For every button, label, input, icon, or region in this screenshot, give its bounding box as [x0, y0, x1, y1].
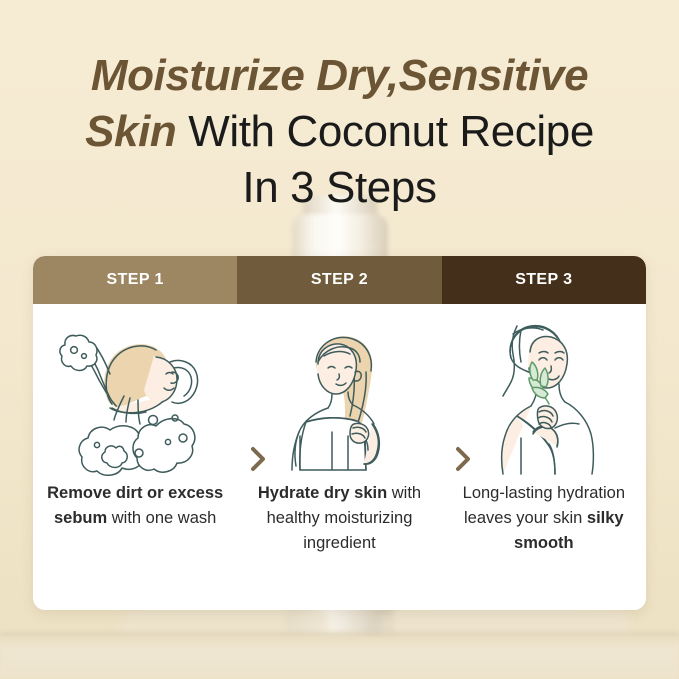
woman-with-hair-turban-holding-leaf-icon	[459, 312, 629, 477]
steps-tab-header: STEP 1 STEP 2 STEP 3	[33, 256, 646, 304]
tab-step-1[interactable]: STEP 1	[33, 256, 237, 304]
headline-emphasis-2: Skin	[85, 107, 176, 156]
page-title: Moisturize Dry,Sensitive Skin With Cocon…	[0, 48, 679, 216]
tab-step-1-label: STEP 1	[107, 271, 164, 289]
tab-step-2[interactable]: STEP 2	[237, 256, 441, 304]
step-3-caption: Long-lasting hydration leaves your skin …	[442, 481, 646, 556]
headline-line-1: Moisturize Dry,Sensitive	[0, 48, 679, 104]
chevron-right-icon-1	[247, 444, 269, 474]
step-2-caption: Hydrate dry skin with healthy moisturizi…	[237, 481, 441, 556]
woman-in-towel-holding-hair-icon	[254, 312, 424, 477]
step-2-caption-bold: Hydrate dry skin	[258, 484, 387, 502]
headline-line-2: Skin With Coconut Recipe	[0, 104, 679, 160]
headline-plain-2: With Coconut Recipe	[176, 107, 594, 156]
step-1-caption-regular: with one wash	[107, 509, 216, 527]
headline-plain-3: In 3 Steps	[242, 163, 436, 212]
headline-emphasis-1: Moisturize Dry,Sensitive	[91, 51, 588, 100]
tab-step-3[interactable]: STEP 3	[442, 256, 646, 304]
step-1-panel: Remove dirt or excess sebum with one was…	[33, 304, 237, 610]
headline-line-3: In 3 Steps	[0, 160, 679, 216]
tab-step-2-label: STEP 2	[311, 271, 368, 289]
steps-body: Remove dirt or excess sebum with one was…	[33, 304, 646, 610]
woman-washing-with-foam-icon	[50, 312, 220, 477]
product-infographic: Moisturize Dry,Sensitive Skin With Cocon…	[0, 0, 679, 679]
tab-step-3-label: STEP 3	[515, 271, 572, 289]
steps-card: STEP 1 STEP 2 STEP 3	[33, 256, 646, 610]
chevron-right-icon-2	[452, 444, 474, 474]
step-1-caption: Remove dirt or excess sebum with one was…	[33, 481, 237, 531]
blurred-shelf-surface	[0, 636, 679, 679]
